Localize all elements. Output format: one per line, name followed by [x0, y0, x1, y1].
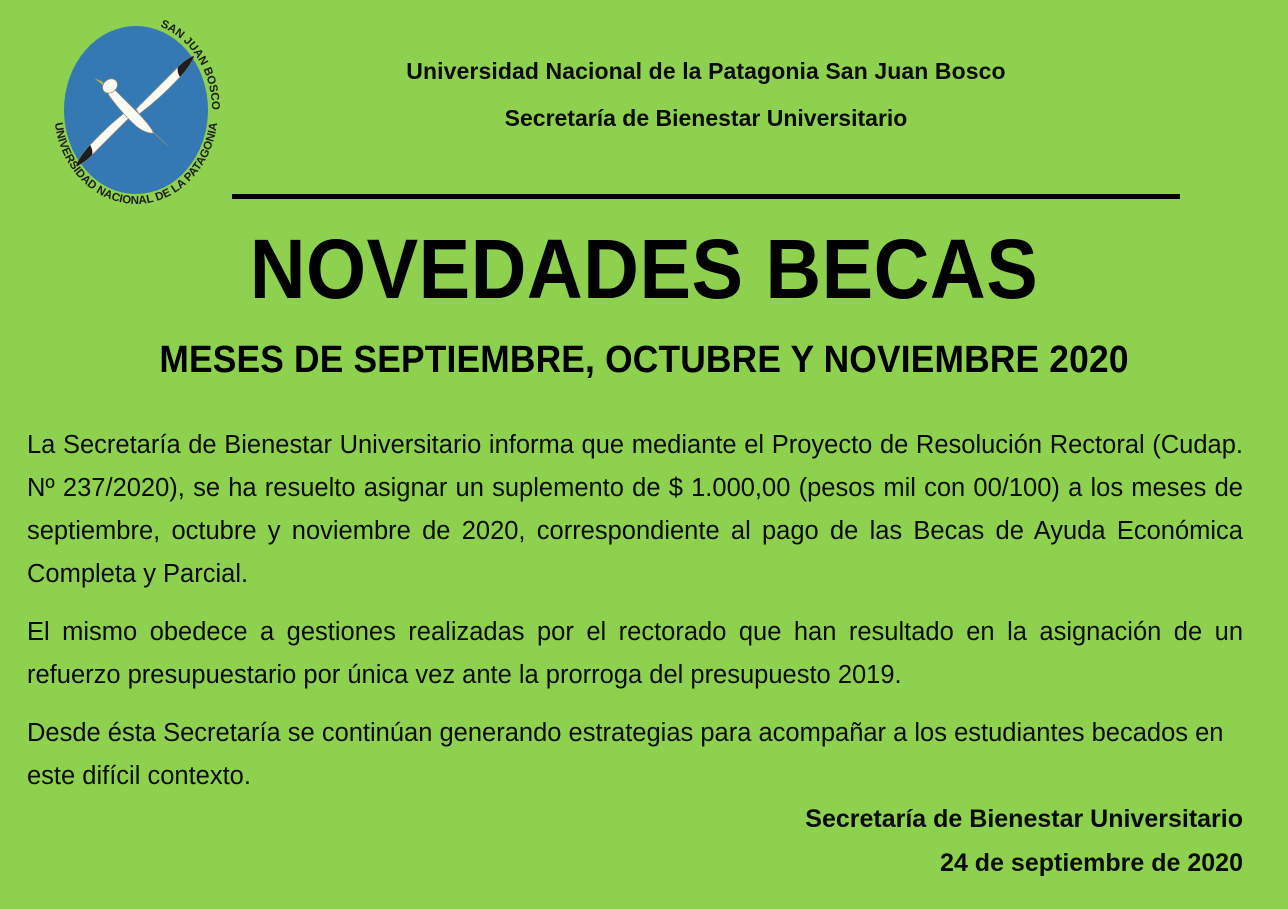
department-name: Secretaría de Bienestar Universitario [232, 103, 1180, 133]
signature-office: Secretaría de Bienestar Universitario [805, 797, 1243, 841]
university-seal-logo: SAN JUAN BOSCO UNIVERSIDAD NACIONAL DE L… [44, 13, 228, 207]
header-divider-rule [232, 194, 1180, 199]
body-copy: La Secretaría de Bienestar Universitario… [27, 424, 1243, 798]
page-title: NOVEDADES BECAS [52, 223, 1237, 315]
page-subtitle: MESES DE SEPTIEMBRE, OCTUBRE Y NOVIEMBRE… [45, 337, 1243, 383]
paragraph-3: Desde ésta Secretaría se continúan gener… [27, 712, 1243, 798]
seal-disc [64, 26, 208, 194]
header-block: Universidad Nacional de la Patagonia San… [232, 56, 1180, 133]
institution-name: Universidad Nacional de la Patagonia San… [232, 56, 1180, 86]
signature-block: Secretaría de Bienestar Universitario 24… [805, 797, 1243, 885]
signature-date: 24 de septiembre de 2020 [805, 841, 1243, 885]
poster-canvas: SAN JUAN BOSCO UNIVERSIDAD NACIONAL DE L… [0, 0, 1288, 909]
paragraph-2: El mismo obedece a gestiones realizadas … [27, 611, 1243, 697]
paragraph-1: La Secretaría de Bienestar Universitario… [27, 424, 1243, 596]
